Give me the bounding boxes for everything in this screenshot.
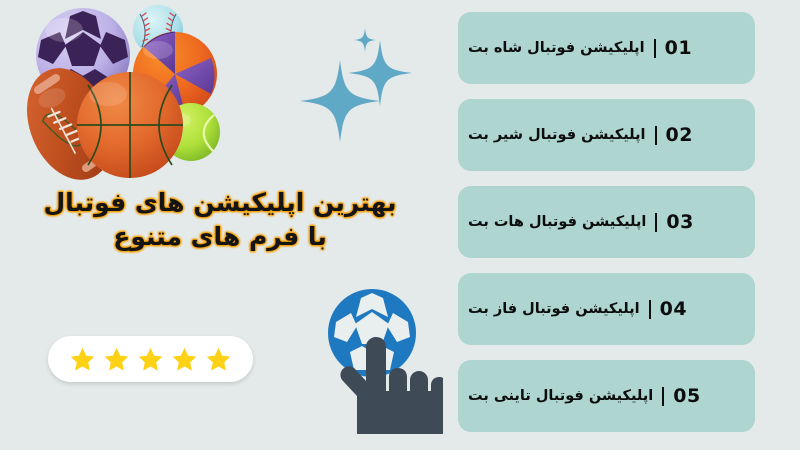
star-icon [137, 346, 164, 373]
app-list: اپلیکیشن فوتبال شاه بت 01 اپلیکیشن فوتبا… [458, 0, 758, 450]
basketball [77, 72, 183, 178]
list-item-title: اپلیکیشن فوتبال تاینی بت [468, 388, 653, 404]
separator-bar [649, 300, 651, 319]
soccer-ball-tap-icon [318, 276, 443, 450]
star-icon [103, 346, 130, 373]
list-item[interactable]: اپلیکیشن فوتبال هات بت 03 [458, 186, 755, 258]
list-item[interactable]: اپلیکیشن فوتبال شیر بت 02 [458, 99, 755, 171]
separator-bar [654, 39, 656, 58]
star-icon [69, 346, 96, 373]
list-item-number: 05 [673, 385, 700, 407]
star-icon [171, 346, 198, 373]
sports-balls-icon [8, 2, 233, 182]
list-item-number: 02 [666, 124, 693, 146]
left-panel: بهترین اپلیکیشن های فوتبال با فرم های مت… [0, 0, 450, 450]
list-item-number: 03 [666, 211, 693, 233]
list-item-number: 04 [660, 298, 687, 320]
headline-line-1: بهترین اپلیکیشن های فوتبال [0, 186, 440, 220]
sparkle-icon [300, 18, 420, 148]
headline-line-2: با فرم های متنوع [0, 220, 440, 254]
separator-bar [655, 126, 657, 145]
list-item-title: اپلیکیشن فوتبال فاز بت [468, 301, 640, 317]
list-item[interactable]: اپلیکیشن فوتبال تاینی بت 05 [458, 360, 755, 432]
page-title: بهترین اپلیکیشن های فوتبال با فرم های مت… [0, 186, 440, 254]
infographic-canvas: بهترین اپلیکیشن های فوتبال با فرم های مت… [0, 0, 800, 450]
list-item[interactable]: اپلیکیشن فوتبال شاه بت 01 [458, 12, 755, 84]
star-rating [48, 336, 253, 382]
separator-bar [662, 387, 664, 406]
list-item-title: اپلیکیشن فوتبال شاه بت [468, 40, 645, 56]
list-item[interactable]: اپلیکیشن فوتبال فاز بت 04 [458, 273, 755, 345]
list-item-number: 01 [665, 37, 692, 59]
list-item-title: اپلیکیشن فوتبال هات بت [468, 214, 646, 230]
separator-bar [655, 213, 657, 232]
star-icon [205, 346, 232, 373]
list-item-title: اپلیکیشن فوتبال شیر بت [468, 127, 646, 143]
